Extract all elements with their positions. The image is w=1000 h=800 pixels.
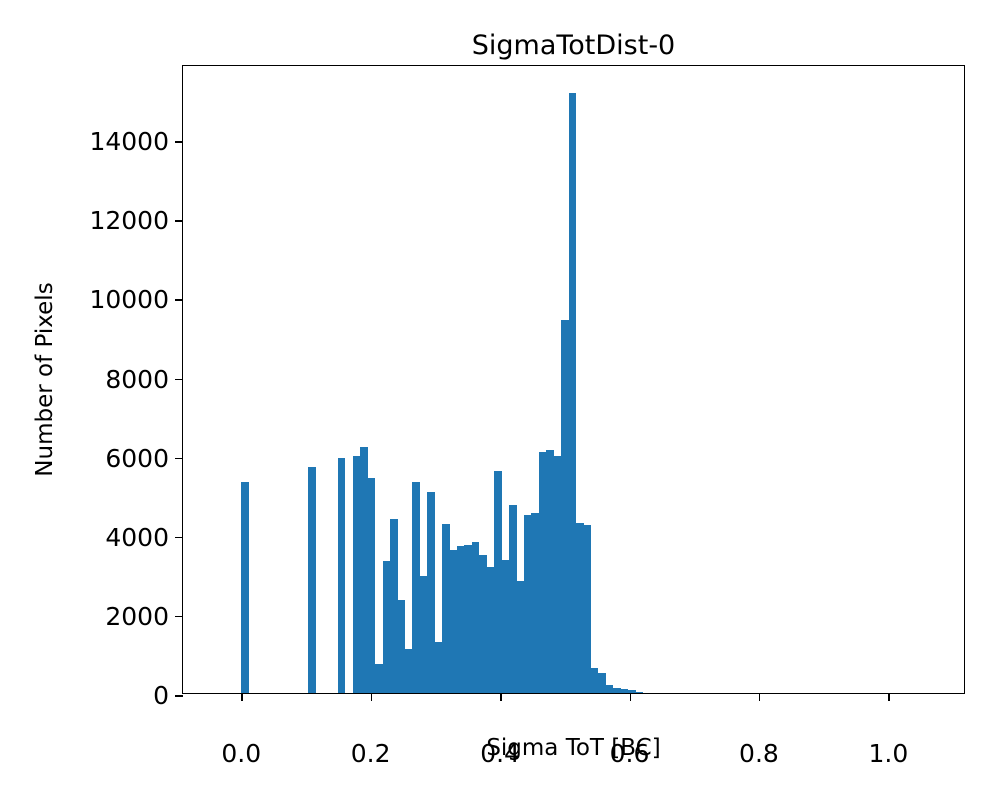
y-tick-label-text: 12000 [89, 206, 169, 235]
histogram-bar [390, 519, 397, 693]
histogram-bar [383, 561, 390, 693]
histogram-bar [241, 482, 248, 693]
histogram-bar [569, 93, 576, 693]
y-tick-mark [175, 220, 183, 222]
histogram-bar [308, 467, 315, 693]
histogram-bar [584, 525, 591, 693]
y-tick-label-text: 14000 [89, 127, 169, 156]
histogram-bar [494, 471, 501, 693]
y-tick-label-text: 8000 [105, 365, 169, 394]
histogram-bar [621, 689, 628, 693]
y-tick-mark [175, 379, 183, 381]
histogram-bar [598, 673, 605, 693]
x-tick-mark [500, 693, 502, 701]
histogram-bar [487, 567, 494, 693]
histogram-bar [546, 450, 553, 693]
histogram-bar [524, 515, 531, 693]
histogram-bar [509, 505, 516, 693]
histogram-bar [420, 576, 427, 693]
histogram-bar [405, 649, 412, 693]
histogram-bar [353, 456, 360, 693]
histogram-bar [472, 542, 479, 694]
histogram-bar [375, 664, 382, 693]
x-tick-mark [888, 693, 890, 701]
histogram-bar [502, 560, 509, 693]
histogram-bar [464, 545, 471, 693]
histogram-bar [613, 688, 620, 693]
y-tick-mark [175, 537, 183, 539]
histogram-bar [427, 492, 434, 693]
y-axis-label: Number of Pixels [32, 65, 62, 694]
histogram-bar [442, 524, 449, 693]
y-tick-mark [175, 616, 183, 618]
x-tick-mark [630, 693, 632, 701]
y-tick-mark [175, 458, 183, 460]
y-tick-mark [175, 299, 183, 301]
histogram-bar [338, 458, 345, 693]
histogram-bar [412, 482, 419, 693]
histogram-bar [479, 555, 486, 693]
page-title: SigmaTotDist-0 [182, 30, 965, 62]
histogram-bar [591, 668, 598, 693]
x-tick-mark [241, 693, 243, 701]
histogram-bar [561, 320, 568, 693]
histogram-bar [576, 523, 583, 693]
histogram-bar [517, 581, 524, 693]
y-tick-label-text: 2000 [105, 602, 169, 631]
histogram-bar [531, 513, 538, 693]
x-tick-mark [371, 693, 373, 701]
y-tick-label-text: 6000 [105, 444, 169, 473]
histogram-bar [457, 546, 464, 693]
histogram-bar [539, 452, 546, 693]
histogram-bar [435, 642, 442, 693]
histogram-bar [360, 447, 367, 693]
y-tick-mark [175, 695, 183, 697]
histogram-bar [398, 600, 405, 693]
figure-canvas: SigmaTotDist-0 0200040006000800010000120… [0, 0, 1000, 800]
y-tick-mark [175, 141, 183, 143]
y-tick-label-text: 4000 [105, 523, 169, 552]
y-tick-label-text: 0 [153, 681, 169, 710]
plot-axes: 02000400060008000100001200014000 0.00.20… [182, 65, 965, 694]
x-tick-mark [759, 693, 761, 701]
histogram-bar [554, 456, 561, 693]
histogram-bar [450, 550, 457, 693]
y-tick-label-text: 10000 [89, 285, 169, 314]
x-axis-label: Sigma ToT [BC] [182, 735, 965, 761]
histogram-bar [636, 692, 643, 693]
histogram-bar [606, 685, 613, 693]
histogram-bar [368, 478, 375, 693]
histogram-plot-area [183, 66, 964, 693]
